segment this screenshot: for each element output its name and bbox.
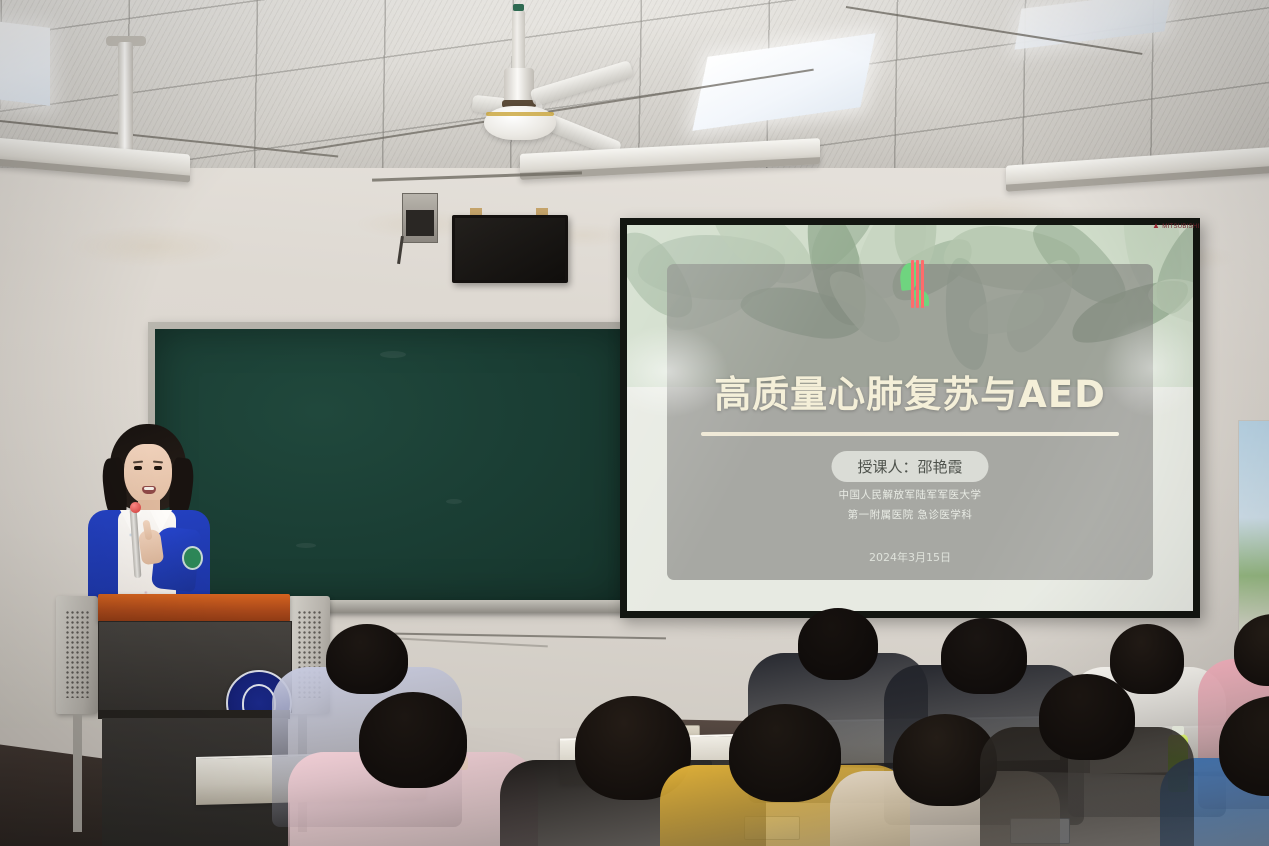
audience-member	[980, 674, 1194, 846]
brand-text: MITSUBISHI	[1162, 224, 1199, 230]
slide-date: 2024年3月15日	[627, 549, 1193, 565]
projection-screen: 高质量心肺复苏与AED 授课人：邵艳霞 中国人民解放军陆军军医大学 第一附属医院…	[620, 218, 1200, 618]
fan-rod	[512, 10, 525, 72]
ceiling-fan	[452, 10, 622, 150]
presenter-eye	[134, 466, 142, 470]
screen-surface: 高质量心肺复苏与AED 授课人：邵艳霞 中国人民解放军陆军军医大学 第一附属医院…	[627, 225, 1193, 611]
logo-bar	[921, 260, 924, 308]
presentation-slide: 高质量心肺复苏与AED 授课人：邵艳霞 中国人民解放军陆军军医大学 第一附属医院…	[627, 225, 1193, 611]
audience-member-head	[326, 624, 408, 694]
fan-gold-trim	[486, 112, 554, 116]
chalkboard	[148, 322, 631, 610]
screen-glare	[627, 325, 729, 418]
audience-member-head	[729, 704, 841, 802]
organization-line-1: 中国人民解放军陆军军医大学	[627, 487, 1193, 502]
green-leaf-red-bars-logo	[896, 260, 938, 310]
ceiling-light-panel	[0, 20, 50, 106]
wall-monitor	[452, 215, 568, 283]
mitsubishi-triangle-icon: ▲	[1152, 221, 1160, 230]
logo-bar	[911, 260, 914, 308]
classroom-photo-scene: 高质量心肺复苏与AED 授课人：邵艳霞 中国人民解放军陆军军医大学 第一附属医院…	[0, 0, 1269, 846]
presenter-mouth	[142, 486, 156, 494]
presenter	[84, 424, 214, 606]
electrical-box	[402, 193, 438, 243]
presenter-face	[124, 444, 172, 504]
audience-member-head	[798, 608, 878, 680]
audience-member-head	[359, 692, 467, 788]
presenter-sleeve-patch	[182, 546, 203, 570]
logo-bar	[916, 260, 919, 308]
presenter-name-pill: 授课人：邵艳霞	[831, 451, 988, 482]
screen-glare	[1102, 318, 1193, 418]
fan-motor	[504, 68, 534, 102]
presenter-eye	[154, 466, 162, 470]
slide-overlay-panel	[667, 264, 1154, 581]
chalkboard-surface	[155, 329, 624, 603]
mitsubishi-brand-label: ▲MITSUBISHI	[1152, 221, 1200, 230]
organization-line-2: 第一附属医院 急诊医学科	[627, 507, 1193, 522]
audience-area	[0, 600, 1269, 846]
microphone-tip	[130, 502, 141, 513]
fan-blade	[530, 60, 634, 107]
title-underline	[701, 432, 1120, 436]
audience-member-head	[1039, 674, 1135, 760]
